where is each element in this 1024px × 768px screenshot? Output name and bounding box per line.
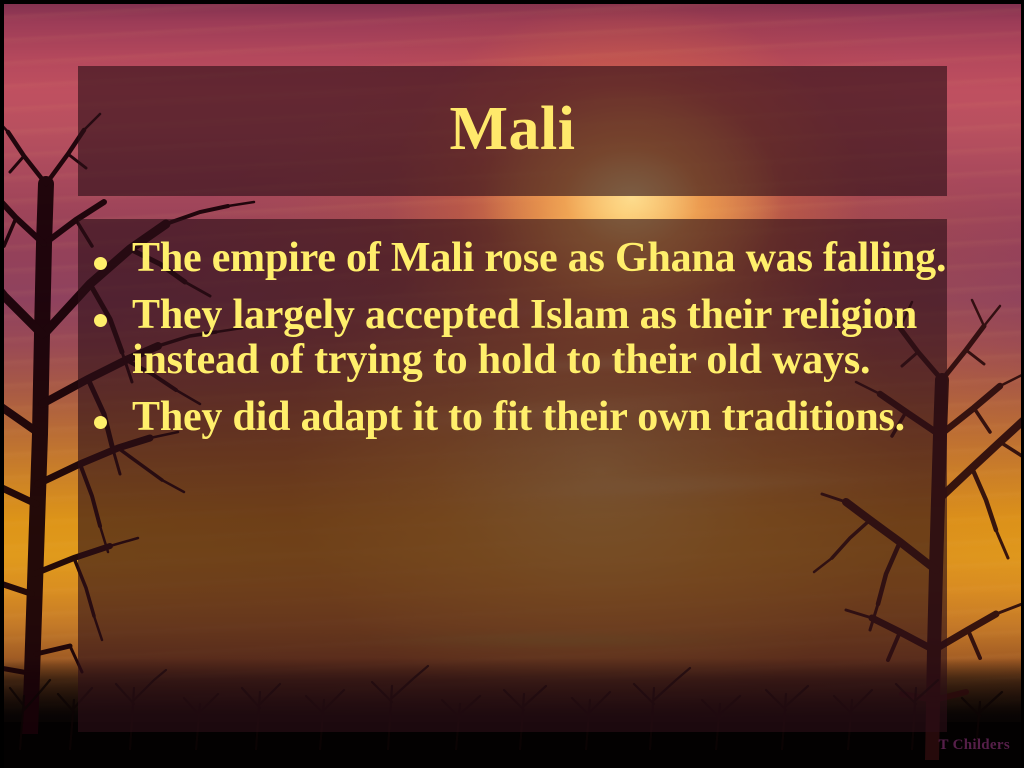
presentation-slide: Mali The empire of Mali rose as Ghana wa… <box>0 0 1024 768</box>
list-item-text: The empire of Mali rose as Ghana was fal… <box>132 235 946 281</box>
list-item[interactable]: They did adapt it to fit their own tradi… <box>90 395 970 441</box>
list-item-text: They did adapt it to fit their own tradi… <box>132 394 905 440</box>
page-title: Mali <box>450 98 576 164</box>
bullet-dot-icon <box>94 314 107 327</box>
footer-credit: T Childers <box>939 737 1011 754</box>
bullet-dot-icon <box>94 257 107 270</box>
list-item[interactable]: They largely accepted Islam as their rel… <box>90 293 970 384</box>
list-item[interactable]: The empire of Mali rose as Ghana was fal… <box>90 236 970 282</box>
title-placeholder[interactable]: Mali <box>78 66 947 196</box>
bullet-list: The empire of Mali rose as Ghana was fal… <box>90 236 970 451</box>
bullet-dot-icon <box>94 416 107 429</box>
list-item-text: They largely accepted Islam as their rel… <box>132 292 917 384</box>
